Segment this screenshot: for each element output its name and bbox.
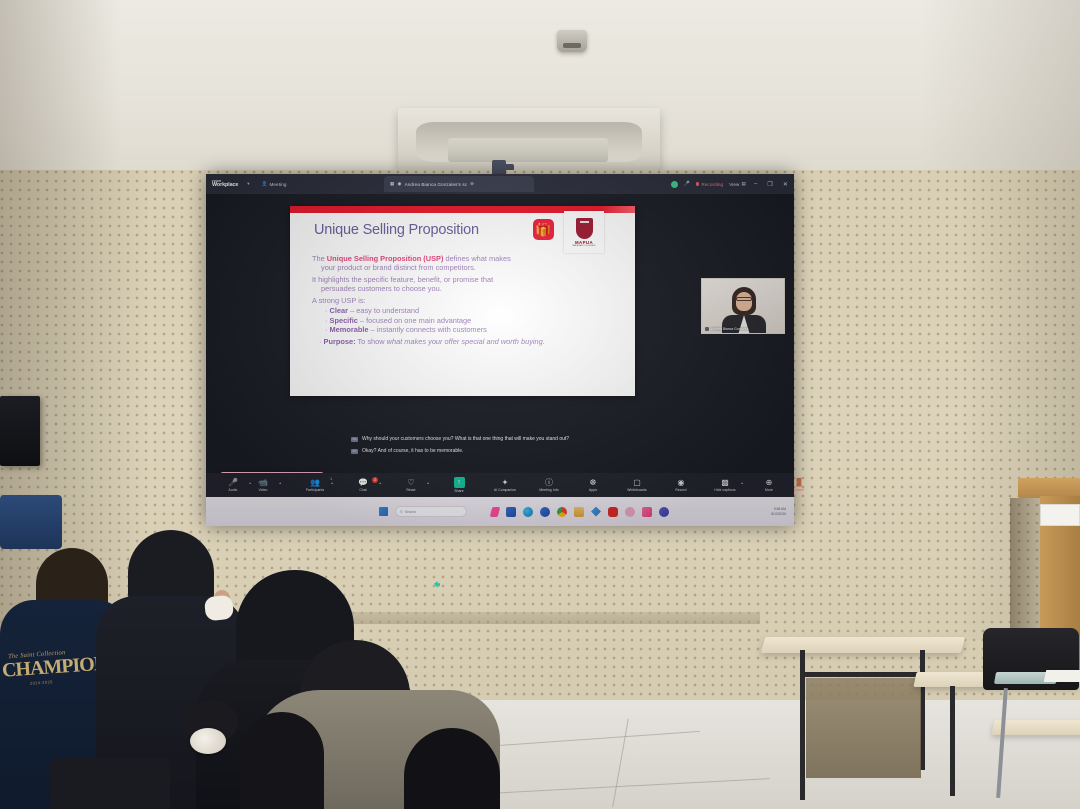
mic-muted-icon bbox=[705, 327, 709, 331]
chat-unread-badge: 3 bbox=[372, 477, 378, 483]
participant-name-label: Andrea Bianca Gonzales bbox=[705, 327, 749, 331]
ac-grill bbox=[448, 138, 608, 162]
view-grid-icon: ▤ bbox=[741, 181, 745, 187]
slide-title: Unique Selling Proposition bbox=[314, 222, 479, 238]
share-screen-icon: ↑ bbox=[454, 477, 465, 488]
blue-chair-back bbox=[0, 495, 62, 549]
leave-icon: 🚪 bbox=[794, 478, 804, 487]
presentation-slide: Unique Selling Proposition 🎁 MAPUA MALAY… bbox=[290, 206, 635, 396]
captions-icon: ▩ bbox=[721, 478, 729, 487]
wall-notice-card bbox=[1040, 504, 1080, 526]
mapua-logo: MAPUA MALAYAN COLLEGES bbox=[564, 211, 604, 253]
slide-bullet: · Clear – easy to understand bbox=[312, 306, 612, 315]
smoke-detector-icon bbox=[557, 30, 587, 52]
heart-app-icon[interactable] bbox=[625, 507, 635, 517]
slide-purpose: · Purpose: To show what makes your offer… bbox=[312, 337, 612, 346]
caption-line: CC Why should your customers choose you?… bbox=[351, 436, 651, 443]
chevron-down-icon[interactable]: ▾ bbox=[247, 181, 249, 187]
meeting-tab-title: Andrea Bianca Gonzales's sc bbox=[405, 182, 468, 187]
meeting-tab[interactable]: ▦ ◉ Andrea Bianca Gonzales's sc ⊖ bbox=[384, 176, 534, 192]
teams-icon[interactable] bbox=[659, 507, 669, 517]
slide-bullet: · Memorable – instantly connects with cu… bbox=[312, 325, 612, 334]
display-icon: ▦ bbox=[390, 181, 394, 187]
apps-icon: ☸ bbox=[589, 478, 596, 487]
zoom-titlebar: zoom Workplace ▾ 👤 Meeting ▦ ◉ Andrea Bi… bbox=[206, 174, 794, 194]
taskbar-app-icons bbox=[491, 507, 669, 517]
cc-icon: CC bbox=[351, 449, 358, 454]
clock-time: 9:58 AM bbox=[771, 507, 786, 511]
mic-icon: 🎤 bbox=[228, 478, 238, 487]
mic-icon[interactable]: 🎤 bbox=[684, 181, 690, 187]
side-wall-monitor bbox=[0, 396, 40, 466]
participant-video-thumbnail[interactable]: Andrea Bianca Gonzales bbox=[701, 278, 785, 334]
heart-icon: ♡ bbox=[407, 478, 414, 487]
slide-bullet: · Specific – focused on one main advanta… bbox=[312, 316, 612, 325]
folder-icon[interactable] bbox=[574, 507, 584, 517]
record-icon: ◉ bbox=[678, 478, 685, 487]
zoom-brand-main: Workplace bbox=[212, 183, 238, 188]
foreground-chair bbox=[50, 758, 170, 809]
cc-icon: CC bbox=[351, 437, 358, 442]
ceiling-shadow-left bbox=[0, 0, 120, 178]
video-button[interactable]: 📹 Video ▴ bbox=[248, 478, 278, 492]
chevron-up-icon[interactable]: ▴ bbox=[427, 481, 429, 485]
more-button[interactable]: ⊕ More bbox=[754, 478, 784, 492]
maximize-window-button[interactable]: ❐ bbox=[765, 181, 774, 188]
share-button[interactable]: ↑ Share bbox=[444, 477, 474, 493]
search-icon: ⚲ bbox=[400, 510, 403, 514]
clock-date: 8/13/2025 bbox=[771, 512, 786, 516]
caption-text: Okay? And of course, it has to be memora… bbox=[362, 448, 463, 455]
office-icon[interactable] bbox=[540, 507, 550, 517]
titlebar-status-group: 🎤 Recording View ▤ – ❐ ✕ bbox=[671, 174, 790, 194]
chrome-icon[interactable] bbox=[557, 507, 567, 517]
mapua-logo-subtitle: MALAYAN COLLEGES bbox=[572, 245, 595, 247]
pink-app-icon[interactable] bbox=[490, 507, 500, 517]
desk-modesty-panel bbox=[806, 678, 921, 778]
projected-screen: zoom Workplace ▾ 👤 Meeting ▦ ◉ Andrea Bi… bbox=[206, 174, 794, 526]
info-icon: ⓘ bbox=[545, 478, 553, 487]
slide-paragraph-1: The Unique Selling Proposition (USP) def… bbox=[312, 254, 612, 273]
minimize-window-button[interactable]: – bbox=[752, 181, 759, 187]
search-placeholder: Search bbox=[405, 510, 416, 514]
desk-leg bbox=[950, 686, 955, 796]
caption-text: Why should your customers choose you? Wh… bbox=[362, 436, 569, 443]
zoom-icon[interactable] bbox=[642, 507, 652, 517]
apps-button[interactable]: ☸ Apps bbox=[578, 478, 608, 492]
whiteboards-button[interactable]: ▢ Whiteboards bbox=[622, 478, 652, 492]
close-window-button[interactable]: ✕ bbox=[781, 181, 790, 188]
windows-taskbar: ⚲ Search 9:58 AM 8/13/2025 bbox=[206, 497, 794, 526]
chevron-up-icon[interactable]: ▴ bbox=[741, 481, 743, 485]
signal-good-icon[interactable] bbox=[671, 181, 678, 188]
slide-list-lead: A strong USP is: bbox=[312, 296, 612, 305]
view-button[interactable]: View ▤ bbox=[729, 181, 746, 187]
chat-button[interactable]: 💬 3 Chat ▴ bbox=[348, 478, 378, 492]
podium-top bbox=[1018, 478, 1080, 498]
chevron-up-icon[interactable]: ▴ bbox=[331, 481, 333, 485]
shield-icon: ◉ bbox=[397, 181, 401, 187]
minimize-tab-icon[interactable]: ⊖ bbox=[470, 181, 474, 187]
more-icon: ⊕ bbox=[766, 478, 773, 487]
video-icon: 📹 bbox=[258, 478, 268, 487]
taskbar-clock[interactable]: 9:58 AM 8/13/2025 bbox=[771, 507, 786, 515]
chevron-up-icon[interactable]: ▴ bbox=[379, 481, 381, 485]
chevron-up-icon[interactable]: ▴ bbox=[279, 481, 281, 485]
gift-award-icon: 🎁 bbox=[533, 219, 554, 240]
meeting-menu[interactable]: 👤 Meeting bbox=[262, 181, 287, 187]
edge-icon[interactable] bbox=[523, 507, 533, 517]
avatar-face bbox=[736, 292, 752, 311]
word-icon[interactable] bbox=[506, 507, 516, 517]
slide-body: The Unique Selling Proposition (USP) def… bbox=[312, 254, 612, 347]
store-icon[interactable] bbox=[591, 507, 601, 517]
whiteboard-icon: ▢ bbox=[633, 478, 641, 487]
hair-scrunchie bbox=[190, 728, 226, 754]
record-dot-icon bbox=[696, 182, 700, 186]
zoom-toolbar: 🎤 Audio ▴ 📹 Video ▴ 👥 1 Participants ▴ 💬… bbox=[206, 473, 794, 497]
slide-paragraph-2: It highlights the specific feature, bene… bbox=[312, 275, 612, 294]
zoom-logo: zoom Workplace bbox=[212, 180, 238, 189]
student-desk bbox=[761, 637, 966, 653]
hide-captions-button[interactable]: ▩ Hide captions ▴ bbox=[710, 478, 740, 492]
classroom-scene: zoom Workplace ▾ 👤 Meeting ▦ ◉ Andrea Bi… bbox=[0, 0, 1080, 809]
view-label: View bbox=[729, 182, 739, 187]
leave-button[interactable]: 🚪 Leave bbox=[784, 478, 814, 492]
ceiling-shadow-right bbox=[920, 0, 1080, 178]
meeting-info-button[interactable]: ⓘ Meeting Info bbox=[534, 478, 564, 492]
react-button[interactable]: ♡ React ▴ bbox=[396, 478, 426, 492]
meeting-icon: 👤 bbox=[262, 181, 268, 187]
audio-button[interactable]: 🎤 Audio ▴ bbox=[218, 478, 248, 492]
participants-button[interactable]: 👥 1 Participants ▴ bbox=[300, 478, 330, 492]
shield-icon bbox=[576, 218, 593, 239]
ai-companion-button[interactable]: ✦ AI Companion bbox=[490, 478, 520, 492]
search-input[interactable]: ⚲ Search bbox=[395, 506, 467, 517]
recorder-icon[interactable] bbox=[608, 507, 618, 517]
paper-on-desk bbox=[1044, 670, 1080, 682]
sparkle-icon: ✦ bbox=[502, 478, 509, 487]
desk-rail bbox=[800, 672, 925, 677]
chat-icon: 💬 bbox=[358, 478, 368, 487]
people-icon: 👥 bbox=[310, 478, 320, 487]
record-button[interactable]: ◉ Record bbox=[666, 478, 696, 492]
glasses-icon bbox=[736, 297, 752, 301]
meeting-label: Meeting bbox=[269, 182, 286, 187]
windows-start-icon[interactable] bbox=[379, 507, 388, 516]
recording-label: Recording bbox=[701, 182, 723, 187]
live-captions: CC Why should your customers choose you?… bbox=[351, 436, 651, 460]
ceiling-ac-unit bbox=[398, 108, 660, 170]
caption-line: CC Okay? And of course, it has to be mem… bbox=[351, 448, 651, 455]
recording-indicator[interactable]: Recording bbox=[696, 182, 723, 187]
student-head bbox=[240, 712, 324, 809]
